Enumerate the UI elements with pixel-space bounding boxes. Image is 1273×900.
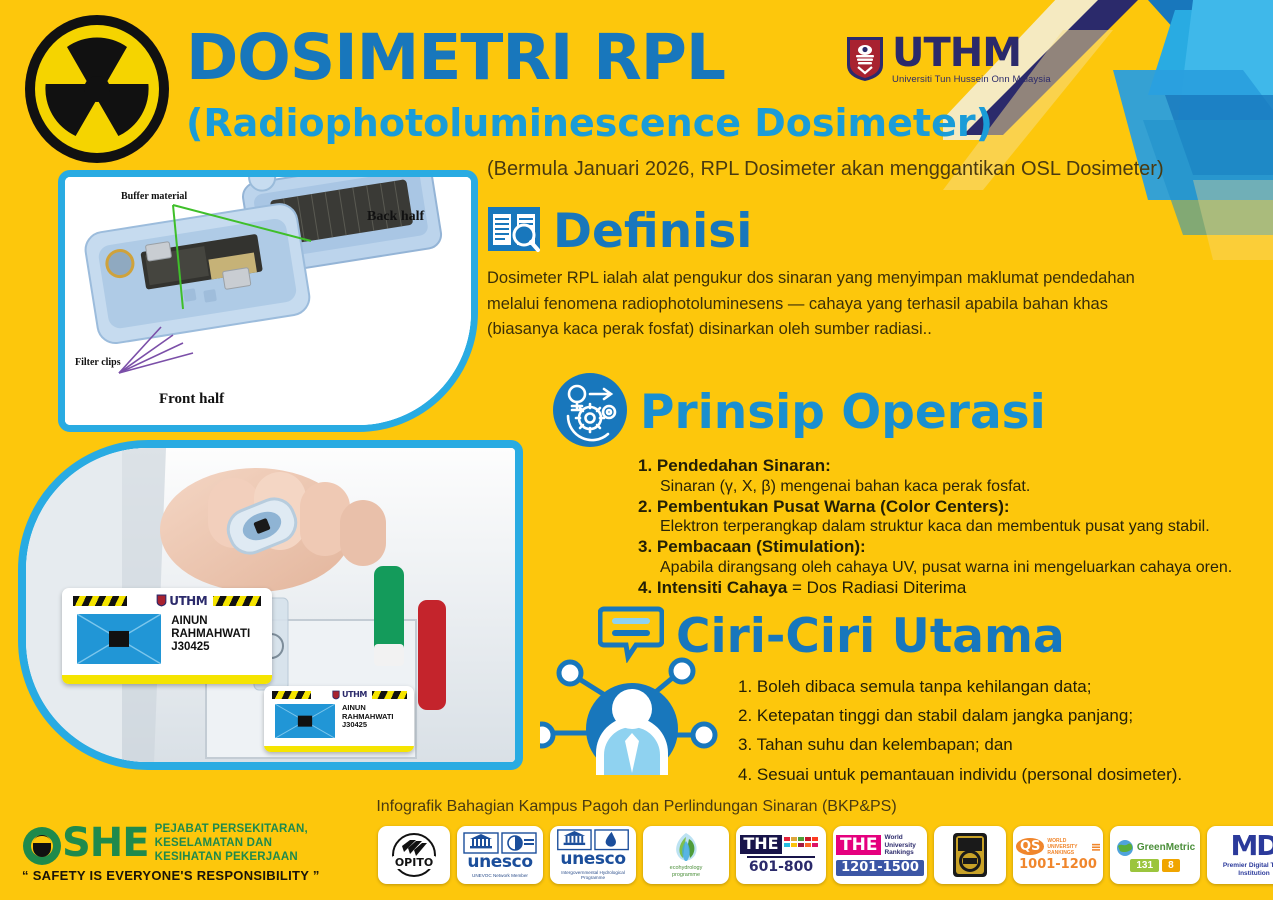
- badge-id: J30425: [342, 721, 394, 729]
- logo-the-wur-extra: World University Rankings: [884, 834, 924, 856]
- poster-root: DOSIMETRI RPL (Radiophotoluminescence Do…: [0, 0, 1273, 900]
- logo-ui-greenmetric: GreenMetric 131 8: [1110, 826, 1200, 884]
- logo-qs-extra: WORLD UNIVERSITY RANKINGS: [1047, 838, 1088, 856]
- oshe-desc-line1: PEJABAT PERSEKITARAN,: [155, 822, 308, 836]
- hazard-stripe-right: [368, 691, 407, 698]
- hazard-stripe-left: [272, 691, 311, 698]
- prinsip-step: 3. Pembacaan (Stimulation): Apabila dira…: [638, 536, 1267, 577]
- uthm-shield-icon: [845, 35, 885, 83]
- dosimeter-illustration: Buffer material Back half Filter clips F…: [65, 177, 471, 425]
- definisi-line: melalui fenomena radiophotoluminesens — …: [487, 292, 1187, 318]
- logo-the-wur-label: THE: [836, 835, 881, 855]
- logo-qs-wur: QS WORLD UNIVERSITY RANKINGS 1001-1200: [1013, 826, 1103, 884]
- badge-name-line2: RAHMAHWATI: [171, 628, 250, 641]
- person-network-icon: [540, 649, 720, 784]
- step-number: 1.: [638, 456, 652, 475]
- prinsip-step: 1. Pendedahan Sinaran: Sinaran (γ, X, β)…: [638, 455, 1267, 496]
- step-heading: Pendedahan Sinaran:: [657, 456, 831, 475]
- dosimeter-badge-small: UTHM AINUN RAHMAHWATI J30425: [264, 686, 414, 752]
- logo-opito-label: OPITO: [395, 856, 433, 869]
- definisi-line: Dosimeter RPL ialah alat pengukur dos si…: [487, 266, 1187, 292]
- prinsip-step: 2. Pembentukan Pusat Warna (Color Center…: [638, 496, 1267, 537]
- lab-scene-photo: UTHM AINUN RAHMAHWATI J30425: [26, 448, 515, 762]
- ciri-item: 1. Boleh dibaca semula tanpa kehilangan …: [738, 672, 1270, 701]
- ciri-item: 3. Tahan suhu dan kelembapan; dan: [738, 730, 1270, 759]
- definisi-title: Definisi: [553, 208, 752, 255]
- step-heading: Intensiti Cahaya: [657, 578, 787, 597]
- prinsip-title: Prinsip Operasi: [640, 389, 1046, 436]
- oshe-description: PEJABAT PERSEKITARAN, KESELAMATAN DAN KE…: [155, 822, 308, 864]
- step-detail: Elektron terperangkap dalam struktur kac…: [638, 518, 1267, 536]
- badge-yellow-bar: [62, 675, 272, 684]
- badge-window: [77, 614, 161, 664]
- badge-id: J30425: [171, 641, 250, 654]
- step-suffix: = Dos Radiasi Diterima: [787, 578, 966, 597]
- oshe-acronym: SHE: [22, 824, 149, 862]
- accreditation-logos: OPITO unesco UNEVOC Network Member: [378, 826, 1273, 884]
- badge-org: UTHM: [169, 594, 207, 608]
- badge-name-line1: AINUN: [171, 615, 250, 628]
- logo-unesco-ihp-label: unesco: [560, 851, 625, 868]
- page-note: (Bermula Januari 2026, RPL Dosimeter aka…: [487, 158, 1164, 181]
- page-title: DOSIMETRI RPL: [186, 26, 725, 89]
- ciri-item: 2. Ketepatan tinggi dan stabil dalam jan…: [738, 701, 1270, 730]
- logo-md-sub: Premier Digital Tech Institution: [1210, 862, 1273, 878]
- oshe-slogan: “ SAFETY IS EVERYONE'S RESPONSIBILITY ”: [22, 868, 320, 883]
- badge-window: [275, 704, 335, 738]
- uthm-logo-tagline: Universiti Tun Hussein Onn Malaysia: [892, 75, 1051, 85]
- dosimeter-badge-large: UTHM AINUN RAHMAHWATI J30425: [62, 588, 272, 684]
- ciri-items: 1. Boleh dibaca semula tanpa kehilangan …: [738, 672, 1270, 789]
- logo-opito: OPITO: [378, 826, 450, 884]
- label-front-half: Front half: [159, 391, 224, 408]
- step-detail: Apabila dirangsang oleh cahaya UV, pusat…: [638, 559, 1267, 577]
- logo-ecohydrology: ecohydrology programme: [643, 826, 729, 884]
- badge-org: UTHM: [342, 690, 367, 699]
- step-heading: Pembentukan Pusat Warna (Color Centers):: [657, 497, 1010, 516]
- logo-qs-rank: 1001-1200: [1019, 858, 1097, 872]
- label-back-half: Back half: [367, 209, 424, 225]
- logo-unesco-ihp-sub: Intergovernmental Hydrological Programme: [553, 870, 633, 881]
- definisi-line: (biasanya kaca perak fosfat) disinarkan …: [487, 317, 1187, 343]
- logo-unesco-sub: UNEVOC Network Member: [472, 873, 528, 879]
- badge-yellow-bar: [264, 746, 414, 752]
- badge-uthm-logo: UTHM: [150, 594, 213, 608]
- logo-unesco-label: unesco: [467, 854, 532, 871]
- label-buffer-material: Buffer material: [121, 191, 187, 202]
- oshe-letters: SHE: [62, 824, 149, 862]
- infographic-credit: Infografik Bahagian Kampus Pagoh dan Per…: [0, 798, 1273, 816]
- book-magnifier-icon: [487, 205, 541, 258]
- definisi-header: Definisi: [487, 205, 1187, 258]
- oshe-logo-block: SHE PEJABAT PERSEKITARAN, KESELAMATAN DA…: [22, 822, 320, 883]
- logo-qs-label: QS: [1016, 838, 1044, 855]
- logo-md-label: MD: [1230, 832, 1273, 860]
- logo-the-wur: THE World University Rankings 1201-1500: [833, 826, 927, 884]
- section-definisi: Definisi Dosimeter RPL ialah alat penguk…: [487, 205, 1187, 343]
- step-heading: Pembacaan (Stimulation):: [657, 537, 866, 556]
- logo-md-premier: MD Premier Digital Tech Institution: [1207, 826, 1273, 884]
- badge-name-block: AINUN RAHMAHWATI J30425: [171, 615, 250, 654]
- logo-the-impact: THE 601-800: [736, 826, 826, 884]
- logo-eco-sub: programme: [672, 872, 700, 879]
- logo-greenmetric-malaysia-rank: 8: [1162, 859, 1180, 872]
- gear-lightbulb-icon: [552, 372, 628, 453]
- logo-the-label: THE: [740, 835, 781, 853]
- prinsip-steps: 1. Pendedahan Sinaran: Sinaran (γ, X, β)…: [638, 455, 1267, 599]
- dosimeter-diagram-card: Buffer material Back half Filter clips F…: [58, 170, 478, 432]
- prinsip-header: Prinsip Operasi: [552, 372, 1267, 453]
- ciri-item: 4. Sesuai untuk pemantauan individu (per…: [738, 760, 1270, 789]
- step-number: 3.: [638, 537, 652, 556]
- hazard-stripe-right: [207, 596, 262, 607]
- hazard-stripe-left: [73, 596, 128, 607]
- step-detail: Sinaran (γ, X, β) mengenai bahan kaca pe…: [638, 478, 1267, 496]
- page-subtitle: (Radiophotoluminescence Dosimeter): [186, 104, 993, 142]
- ciri-title: Ciri-Ciri Utama: [676, 613, 1065, 660]
- oshe-desc-line2: KESELAMATAN DAN: [155, 836, 308, 850]
- logo-the-wur-rank: 1201-1500: [836, 860, 924, 876]
- badge-name-block: AINUN RAHMAHWATI J30425: [342, 704, 394, 729]
- radiation-trefoil-icon: [22, 14, 172, 164]
- logo-greenmetric-world-rank: 131: [1130, 859, 1159, 872]
- step-number: 4.: [638, 578, 652, 597]
- logo-unesco-unevoc: unesco UNEVOC Network Member: [457, 826, 543, 884]
- definisi-body: Dosimeter RPL ialah alat pengukur dos si…: [487, 266, 1187, 343]
- logo-the-impact-rank: 601-800: [749, 860, 813, 875]
- oshe-desc-line3: KESIHATAN PEKERJAAN: [155, 850, 308, 864]
- badge-uthm-logo: UTHM: [327, 690, 372, 700]
- section-ciri-ciri: Ciri-Ciri Utama: [540, 605, 1270, 789]
- logo-uthm-seal: [934, 826, 1006, 884]
- uthm-logo: UTHM Universiti Tun Hussein Onn Malaysia: [845, 33, 1051, 85]
- logo-eco-label: ecohydrology: [670, 865, 703, 872]
- uthm-logo-name: UTHM: [892, 33, 1051, 73]
- step-number: 2.: [638, 497, 652, 516]
- prinsip-step: 4. Intensiti Cahaya = Dos Radiasi Diteri…: [638, 577, 1267, 600]
- logo-greenmetric-label: GreenMetric: [1137, 842, 1195, 853]
- label-filter-clips: Filter clips: [75, 357, 121, 368]
- section-prinsip-operasi: Prinsip Operasi 1. Pendedahan Sinaran: S…: [552, 372, 1267, 599]
- logo-unesco-ihp: unesco Intergovernmental Hydrological Pr…: [550, 826, 636, 884]
- dosimeter-photo-card: UTHM AINUN RAHMAHWATI J30425: [18, 440, 523, 770]
